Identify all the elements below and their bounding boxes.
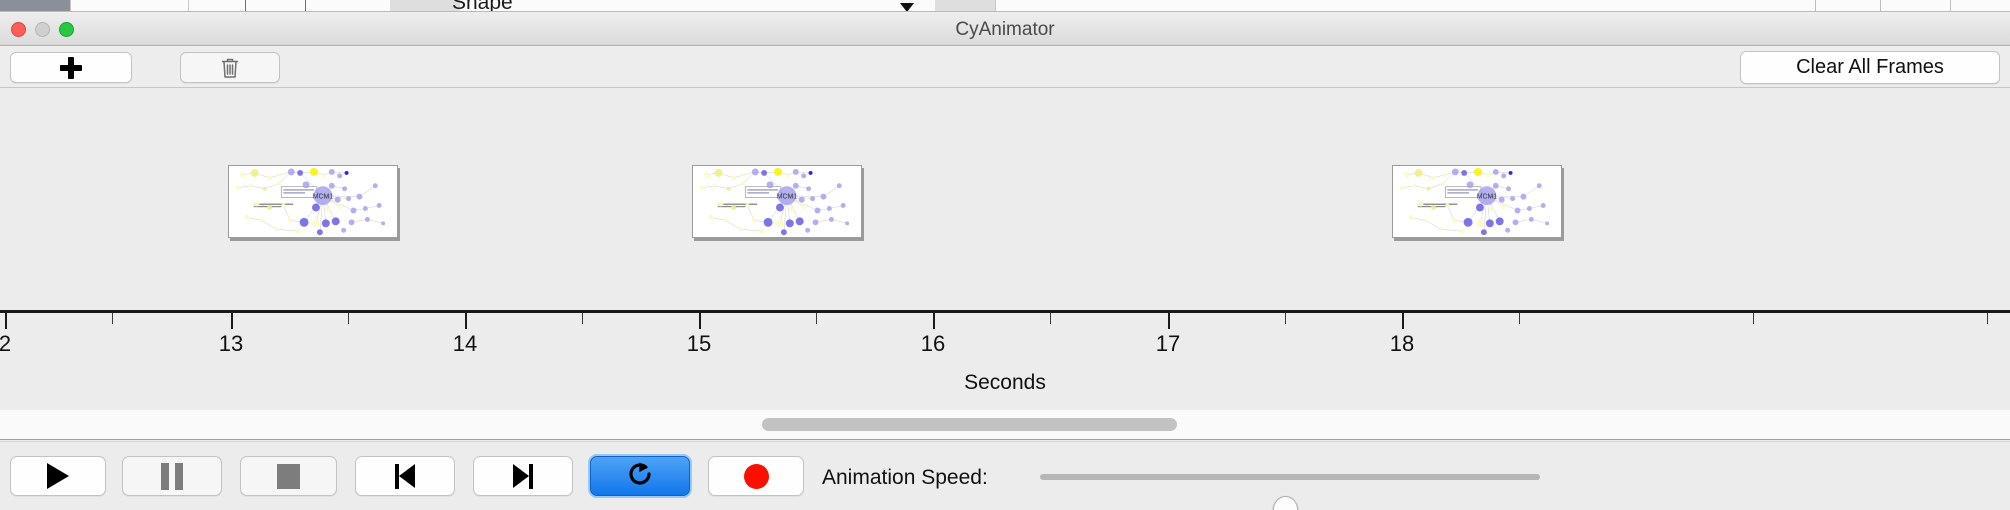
skip-forward-icon <box>513 464 533 489</box>
timeline-scrollbar[interactable] <box>0 410 2010 440</box>
animation-speed-slider[interactable] <box>1040 474 1540 480</box>
timeline-minor-tick <box>582 313 583 324</box>
svg-text:MCM1: MCM1 <box>1477 194 1497 201</box>
timeline-tick <box>699 313 701 329</box>
plus-icon <box>60 57 82 79</box>
animation-speed-label: Animation Speed: <box>822 466 988 490</box>
timeline-tick-label: 13 <box>219 331 243 357</box>
next-frame-button[interactable] <box>473 456 573 496</box>
background-shape-label: Shape <box>452 0 513 12</box>
timeline-tick-label: 17 <box>1156 331 1180 357</box>
pause-button <box>122 456 222 496</box>
delete-frame-button[interactable] <box>180 52 280 83</box>
timeline-tick-label: 18 <box>1390 331 1414 357</box>
clear-all-frames-button[interactable]: Clear All Frames <box>1740 51 2000 84</box>
background-window-strip: Shape <box>0 0 2010 12</box>
timeline-minor-tick <box>348 313 349 324</box>
timeline-tick <box>465 313 467 329</box>
timeline-tick <box>1168 313 1170 329</box>
stop-icon <box>277 464 300 489</box>
timeline-tick <box>5 313 7 329</box>
timeline-tick-label: 14 <box>453 331 477 357</box>
timeline-frame-thumbnail[interactable]: MCM1 <box>692 165 862 238</box>
timeline-tick <box>933 313 935 329</box>
play-button[interactable] <box>10 456 106 496</box>
timeline-minor-tick <box>816 313 817 324</box>
timeline-minor-tick <box>1987 313 1988 324</box>
title-bar[interactable]: CyAnimator <box>0 12 2010 46</box>
timeline-axis <box>0 310 2010 313</box>
timeline-axis-title: Seconds <box>0 371 2010 395</box>
timeline-scrollbar-thumb[interactable] <box>762 418 1177 431</box>
timeline-frame-thumbnail[interactable]: MCM1 <box>1392 165 1562 238</box>
playback-control-bar: Animation Speed: <box>0 441 2010 510</box>
timeline-tick-label: 16 <box>921 331 945 357</box>
background-arrow-icon <box>900 3 914 12</box>
skip-back-icon <box>395 464 415 489</box>
cyanimator-window: Shape CyAnimator Clear All Frames <box>0 0 2010 510</box>
timeline-frame-thumbnail[interactable]: MCM1 <box>228 165 398 238</box>
svg-text:MCM1: MCM1 <box>777 194 797 201</box>
timeline-panel[interactable]: MCM1MCM1MCM1 2131415161718 Seconds <box>0 88 2010 410</box>
previous-frame-button[interactable] <box>355 456 455 496</box>
loop-icon <box>625 459 655 494</box>
add-frame-button[interactable] <box>10 52 132 83</box>
page-title: CyAnimator <box>0 19 2010 41</box>
trash-icon <box>221 57 239 79</box>
timeline-minor-tick <box>1753 313 1754 324</box>
record-icon <box>744 464 769 489</box>
frame-toolbar: Clear All Frames <box>0 46 2010 88</box>
stop-button <box>240 456 337 496</box>
play-icon <box>47 463 69 489</box>
animation-speed-slider-knob[interactable] <box>1273 496 1298 510</box>
timeline-minor-tick <box>112 313 113 324</box>
timeline-minor-tick <box>1519 313 1520 324</box>
timeline-tick <box>231 313 233 329</box>
svg-text:MCM1: MCM1 <box>313 194 333 201</box>
timeline-tick-label: 15 <box>687 331 711 357</box>
record-button[interactable] <box>708 456 804 496</box>
background-tab <box>0 0 70 12</box>
timeline-minor-tick <box>1050 313 1051 324</box>
pause-icon <box>161 463 183 490</box>
loop-button[interactable] <box>590 456 690 496</box>
timeline-minor-tick <box>1285 313 1286 324</box>
timeline-tick <box>1402 313 1404 329</box>
timeline-tick-label: 2 <box>0 331 11 357</box>
